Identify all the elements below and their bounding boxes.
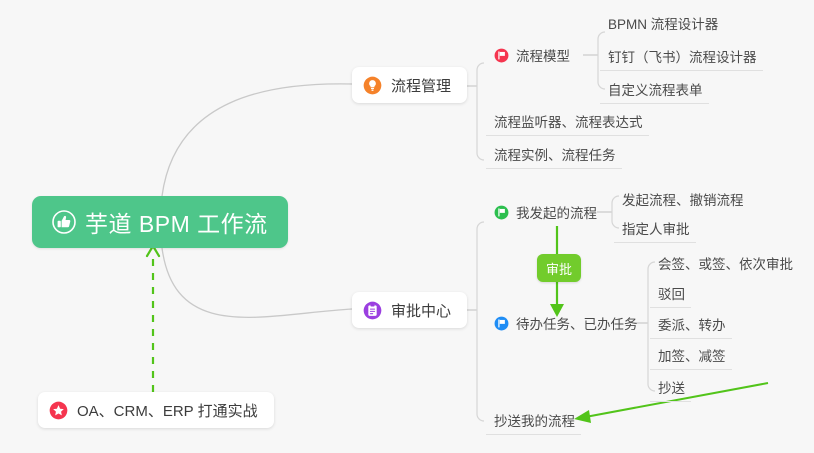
flag-icon — [494, 316, 509, 331]
leaf-cc[interactable]: 抄送 — [650, 372, 691, 402]
clipboard-icon — [363, 301, 382, 320]
badge-label: 审批 — [546, 259, 572, 278]
group-label: 流程模型 — [516, 45, 570, 65]
floating-node-oa-crm-erp[interactable]: OA、CRM、ERP 打通实战 — [38, 392, 274, 428]
edge-root-to-approval-center — [162, 248, 352, 317]
floating-node-label: OA、CRM、ERP 打通实战 — [77, 400, 258, 421]
group-todo-done-tasks[interactable]: 待办任务、已办任务 — [494, 311, 638, 335]
leaf-label: 抄送我的流程 — [494, 410, 575, 430]
leaf-label: 驳回 — [658, 283, 685, 303]
leaf-listener-expression[interactable]: 流程监听器、流程表达式 — [486, 106, 649, 136]
mindmap-canvas: 芋道 BPM 工作流 流程管理 流程模型 BPMN 流程设计器 钉钉（飞书 — [0, 0, 814, 453]
star-icon — [49, 401, 68, 420]
lightbulb-icon — [363, 76, 382, 95]
leaf-add-remove-sign[interactable]: 加签、减签 — [650, 340, 732, 370]
bracket-process-management — [477, 63, 484, 160]
group-label: 我发起的流程 — [516, 202, 597, 222]
leaf-dingtalk-designer[interactable]: 钉钉（飞书）流程设计器 — [600, 41, 763, 71]
leaf-countersign[interactable]: 会签、或签、依次审批 — [650, 248, 799, 278]
leaf-delegate-transfer[interactable]: 委派、转办 — [650, 309, 732, 339]
leaf-label: 发起流程、撤销流程 — [622, 189, 744, 209]
leaf-instance-task[interactable]: 流程实例、流程任务 — [486, 139, 622, 169]
leaf-custom-form[interactable]: 自定义流程表单 — [600, 74, 709, 104]
branch-label: 流程管理 — [391, 75, 451, 96]
leaf-label: 会签、或签、依次审批 — [658, 253, 793, 273]
leaf-label: 抄送 — [658, 377, 685, 397]
approval-flow-badge[interactable]: 审批 — [537, 254, 581, 282]
leaf-label: 委派、转办 — [658, 314, 726, 334]
flag-icon — [494, 48, 509, 63]
leaf-label: 流程监听器、流程表达式 — [494, 111, 643, 131]
leaf-label: 钉钉（飞书）流程设计器 — [608, 46, 757, 66]
group-label: 待办任务、已办任务 — [516, 313, 638, 333]
leaf-label: 自定义流程表单 — [608, 79, 703, 99]
root-label: 芋道 BPM 工作流 — [85, 205, 268, 239]
leaf-cc-to-me[interactable]: 抄送我的流程 — [486, 405, 581, 435]
leaf-label: BPMN 流程设计器 — [608, 13, 718, 33]
leaf-bpmn-designer[interactable]: BPMN 流程设计器 — [600, 8, 724, 38]
branch-process-management[interactable]: 流程管理 — [352, 67, 467, 103]
root-node[interactable]: 芋道 BPM 工作流 — [32, 196, 288, 248]
group-process-model[interactable]: 流程模型 — [494, 43, 570, 67]
thumbs-up-icon — [52, 210, 76, 234]
edge-root-to-process-management — [162, 84, 352, 196]
flag-icon — [494, 205, 509, 220]
branch-approval-center[interactable]: 审批中心 — [352, 292, 467, 328]
leaf-label: 指定人审批 — [622, 218, 690, 238]
bracket-approval-center — [477, 222, 484, 421]
group-my-initiated[interactable]: 我发起的流程 — [494, 200, 597, 224]
leaf-start-cancel-process[interactable]: 发起流程、撤销流程 — [614, 184, 750, 214]
leaf-label: 加签、减签 — [658, 345, 726, 365]
branch-label: 审批中心 — [391, 300, 451, 321]
leaf-reject[interactable]: 驳回 — [650, 278, 691, 308]
leaf-label: 流程实例、流程任务 — [494, 144, 616, 164]
leaf-assignee-approval[interactable]: 指定人审批 — [614, 213, 696, 243]
